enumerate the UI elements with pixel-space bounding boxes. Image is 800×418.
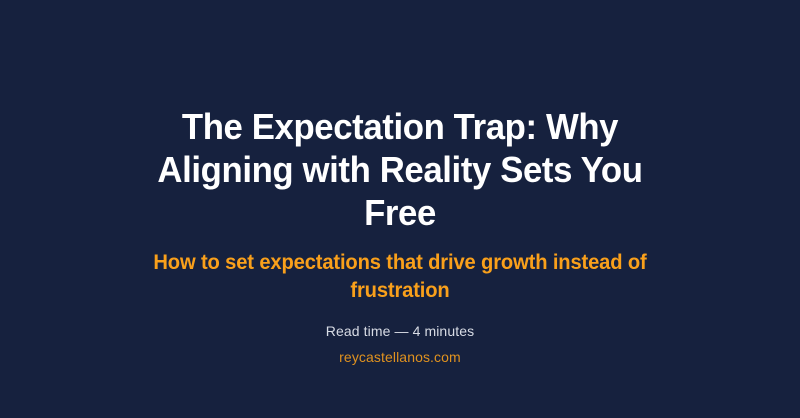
- article-cover-card: The Expectation Trap: Why Aligning with …: [0, 0, 800, 418]
- read-time-label: Read time — 4 minutes: [326, 321, 474, 341]
- cover-content-block: The Expectation Trap: Why Aligning with …: [120, 105, 680, 367]
- page-subtitle: How to set expectations that drive growt…: [131, 249, 669, 305]
- page-title: The Expectation Trap: Why Aligning with …: [130, 105, 670, 234]
- site-url-link[interactable]: reycastellanos.com: [339, 347, 461, 367]
- cover-meta-block: Read time — 4 minutes reycastellanos.com: [326, 321, 474, 367]
